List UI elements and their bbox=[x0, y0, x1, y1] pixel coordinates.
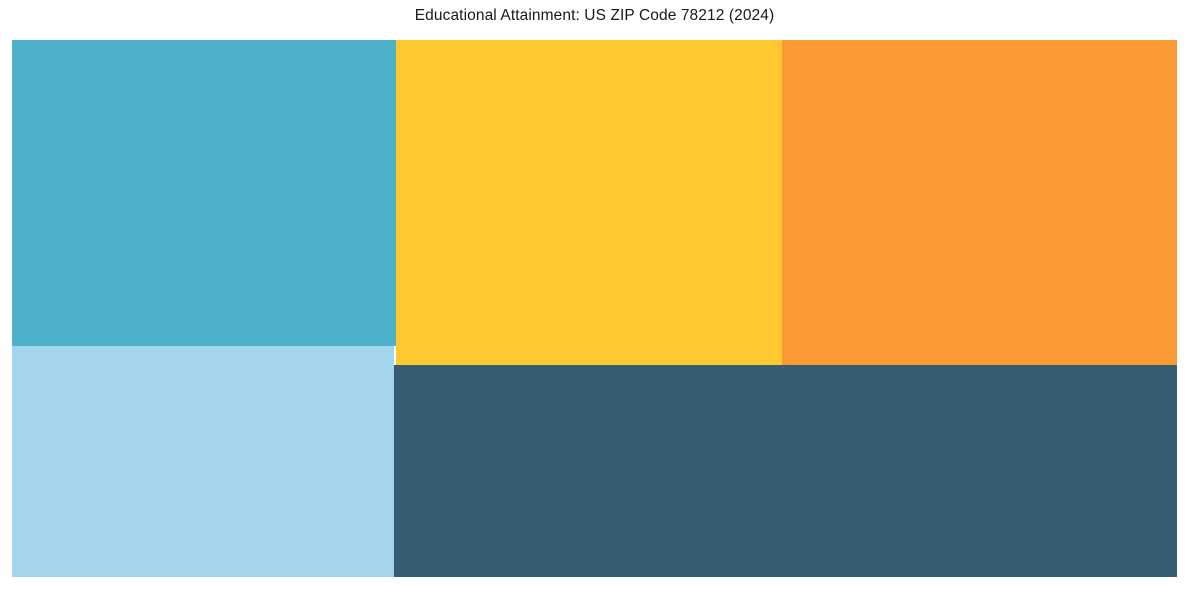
treemap-tile-3[interactable]: Some college, no degree bbox=[782, 40, 1177, 365]
treemap-tile-4[interactable]: High school graduate bbox=[12, 346, 394, 577]
treemap-tile-5[interactable]: Less than high school bbox=[394, 365, 1177, 577]
treemap-tile-1[interactable]: Bachelor's degree bbox=[12, 40, 396, 346]
treemap-tile-2[interactable]: Graduate or professional degree bbox=[396, 40, 782, 365]
chart-title: Educational Attainment: US ZIP Code 7821… bbox=[0, 6, 1189, 26]
treemap-plot-area: Bachelor's degreeGraduate or professiona… bbox=[12, 40, 1177, 577]
figure-canvas: Educational Attainment: US ZIP Code 7821… bbox=[0, 0, 1189, 590]
